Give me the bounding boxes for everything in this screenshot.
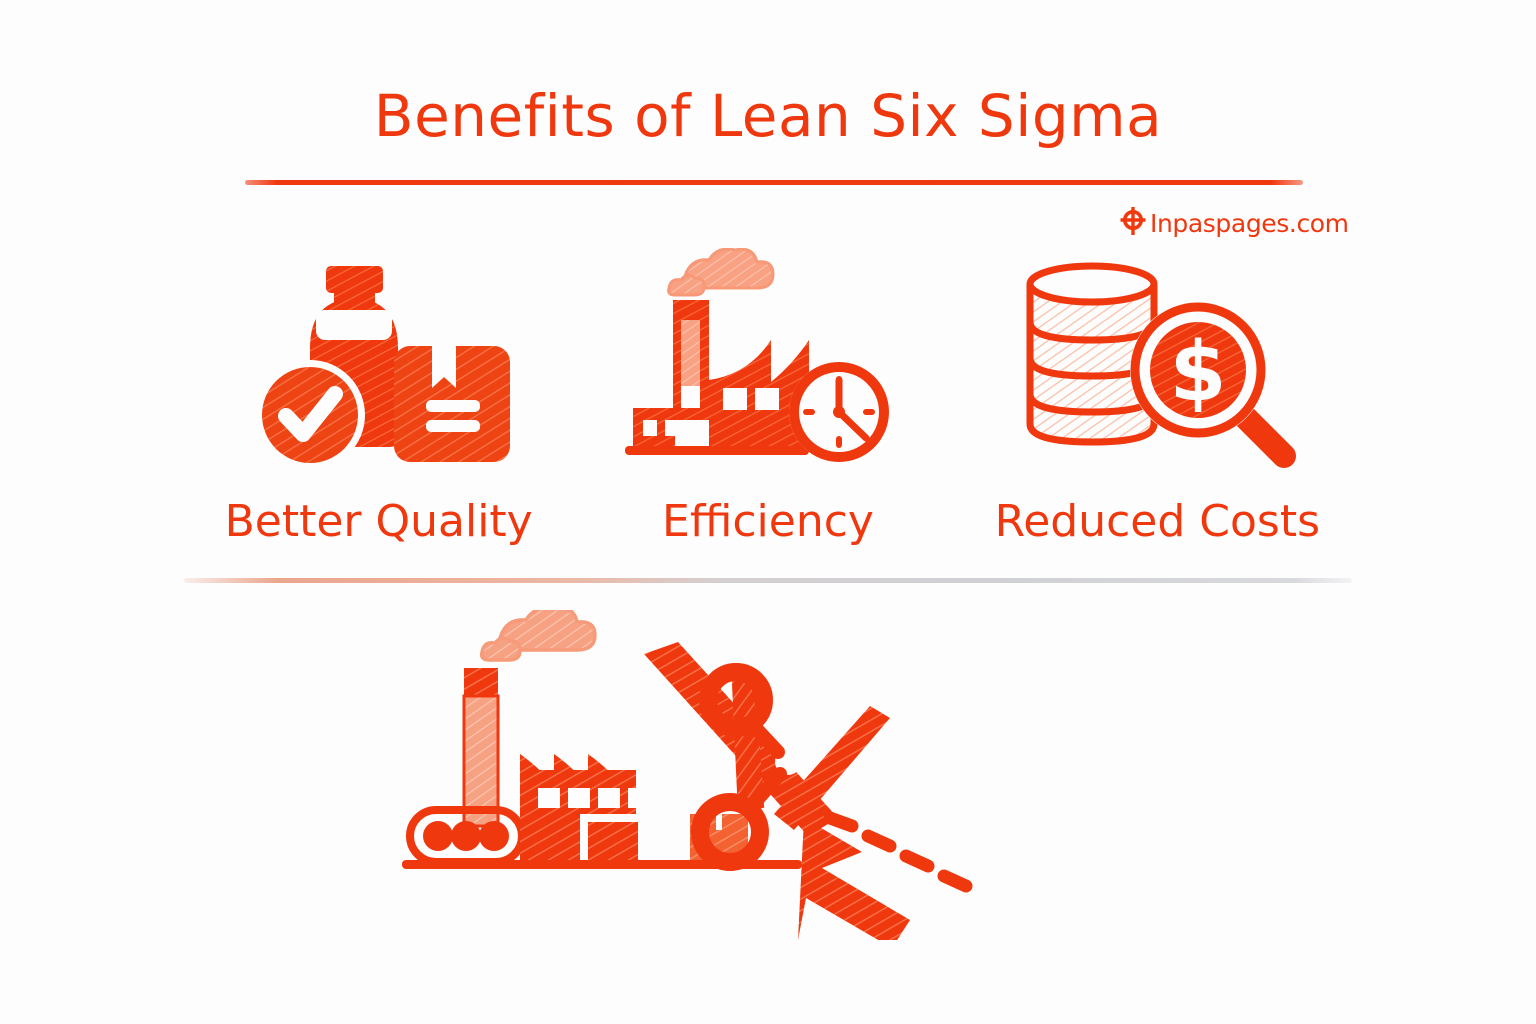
benefit-card-reduced-costs[interactable]: $ Reduced Costs [963,248,1352,558]
factory-conveyor-scissors-cut-arrow-icon [400,610,1100,940]
descending-arrow [644,642,910,940]
page-title: Benefits of Lean Six Sigma [0,82,1536,150]
product-bottle-check-package-icon [234,248,524,480]
benefit-label-reduced-costs: Reduced Costs [995,496,1320,547]
svg-text:$: $ [1170,325,1227,420]
cost-cutting-illustration [400,610,1100,940]
brand-logo[interactable]: Inpaspages.com [1118,205,1349,241]
smoke-cloud [482,610,595,660]
brand-logo-text: Inpaspages.com [1150,211,1349,236]
infographic-canvas: Benefits of Lean Six Sigma Inpaspages.co… [0,0,1536,1024]
crosshair-target-icon [1118,205,1148,241]
factory-clock-icon [623,248,913,480]
benefits-row: Better Quality [184,248,1352,558]
clock [789,362,889,462]
section-divider [184,578,1352,583]
benefit-card-efficiency[interactable]: Efficiency [573,248,962,558]
coin-stack-magnifier-dollar-icon: $ [1012,248,1302,480]
smoke-cloud [669,249,773,295]
smokestack [464,668,498,826]
benefit-label-better-quality: Better Quality [225,496,533,547]
benefit-card-better-quality[interactable]: Better Quality [184,248,573,558]
title-divider [245,180,1303,185]
benefit-label-efficiency: Efficiency [662,496,874,547]
